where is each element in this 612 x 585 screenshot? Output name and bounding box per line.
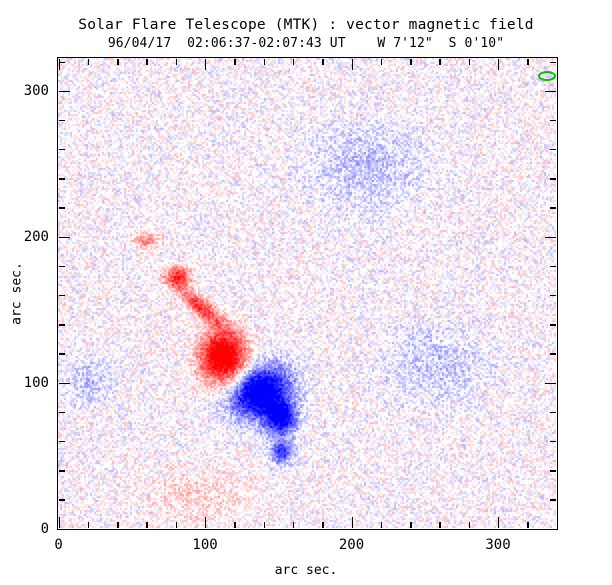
axis-tick <box>59 178 65 179</box>
axis-tick <box>545 237 556 238</box>
axis-tick <box>59 353 65 354</box>
axis-tick <box>498 59 499 70</box>
axis-tick <box>117 522 118 528</box>
axis-tick <box>550 324 556 325</box>
axis-tick <box>550 353 556 354</box>
axis-tick <box>550 470 556 471</box>
axis-tick <box>88 59 89 65</box>
axis-tick <box>59 207 65 208</box>
axis-tick <box>293 59 294 65</box>
axis-tick <box>59 62 65 63</box>
axis-tick <box>527 522 528 528</box>
axis-tick <box>550 207 556 208</box>
axis-tick <box>59 517 60 528</box>
axis-tick <box>59 412 65 413</box>
axis-tick <box>550 266 556 267</box>
axis-tick <box>550 178 556 179</box>
figure-subtitle: 96/04/17 02:06:37-02:07:43 UT W 7'12" S … <box>0 35 612 52</box>
x-axis-title: arc sec. <box>0 563 612 578</box>
axis-tick <box>550 62 556 63</box>
y-tick-label: 300 <box>5 83 49 99</box>
x-tick-label: 200 <box>339 537 364 553</box>
axis-tick <box>322 59 323 65</box>
axis-tick <box>205 517 206 528</box>
figure-title: Solar Flare Telescope (MTK) : vector mag… <box>0 16 612 35</box>
axis-tick <box>59 237 70 238</box>
axis-tick <box>410 59 411 65</box>
axis-tick <box>498 517 499 528</box>
axis-tick <box>59 295 65 296</box>
y-tick-label: 200 <box>5 229 49 245</box>
x-tick-label: 0 <box>54 537 62 553</box>
figure-title-block: Solar Flare Telescope (MTK) : vector mag… <box>0 16 612 52</box>
axis-tick <box>264 522 265 528</box>
y-tick-label: 0 <box>5 521 49 537</box>
axis-tick <box>176 522 177 528</box>
axis-tick <box>352 59 353 70</box>
axis-tick <box>59 266 65 267</box>
axis-tick <box>550 412 556 413</box>
axis-tick <box>550 149 556 150</box>
axis-tick <box>322 522 323 528</box>
x-tick-label: 300 <box>485 537 510 553</box>
axis-tick <box>439 59 440 65</box>
axis-tick <box>527 59 528 65</box>
axis-tick <box>59 149 65 150</box>
axis-tick <box>550 499 556 500</box>
axis-tick <box>352 517 353 528</box>
axis-tick <box>59 441 65 442</box>
magnetogram-figure: Solar Flare Telescope (MTK) : vector mag… <box>0 0 612 585</box>
axis-tick <box>381 59 382 65</box>
axis-tick <box>545 91 556 92</box>
axis-tick <box>545 529 556 530</box>
x-tick-label: 100 <box>192 537 217 553</box>
axis-tick <box>550 120 556 121</box>
axis-tick <box>117 59 118 65</box>
axis-tick <box>550 295 556 296</box>
axis-tick <box>59 383 70 384</box>
axis-tick <box>410 522 411 528</box>
axis-tick <box>469 522 470 528</box>
axis-tick <box>59 499 65 500</box>
axis-tick <box>146 522 147 528</box>
axis-tick <box>88 522 89 528</box>
axis-tick <box>264 59 265 65</box>
axis-tick <box>381 522 382 528</box>
y-tick-label: 100 <box>5 375 49 391</box>
axis-tick <box>59 120 65 121</box>
axis-tick <box>59 59 60 70</box>
axis-tick <box>557 59 558 65</box>
axis-tick <box>59 470 65 471</box>
axis-tick <box>469 59 470 65</box>
axis-tick <box>205 59 206 70</box>
axis-tick <box>557 522 558 528</box>
axis-tick <box>234 59 235 65</box>
axis-tick <box>439 522 440 528</box>
plot-area <box>57 57 558 530</box>
axis-tick <box>59 91 70 92</box>
axis-tick <box>146 59 147 65</box>
axis-tick <box>545 383 556 384</box>
axis-tick <box>293 522 294 528</box>
axis-tick <box>176 59 177 65</box>
axis-tick <box>550 441 556 442</box>
axis-tick <box>234 522 235 528</box>
y-axis-title: arc sec. <box>10 249 25 339</box>
axis-tick <box>59 324 65 325</box>
axis-tick <box>59 529 70 530</box>
magnetogram-image <box>58 58 556 528</box>
